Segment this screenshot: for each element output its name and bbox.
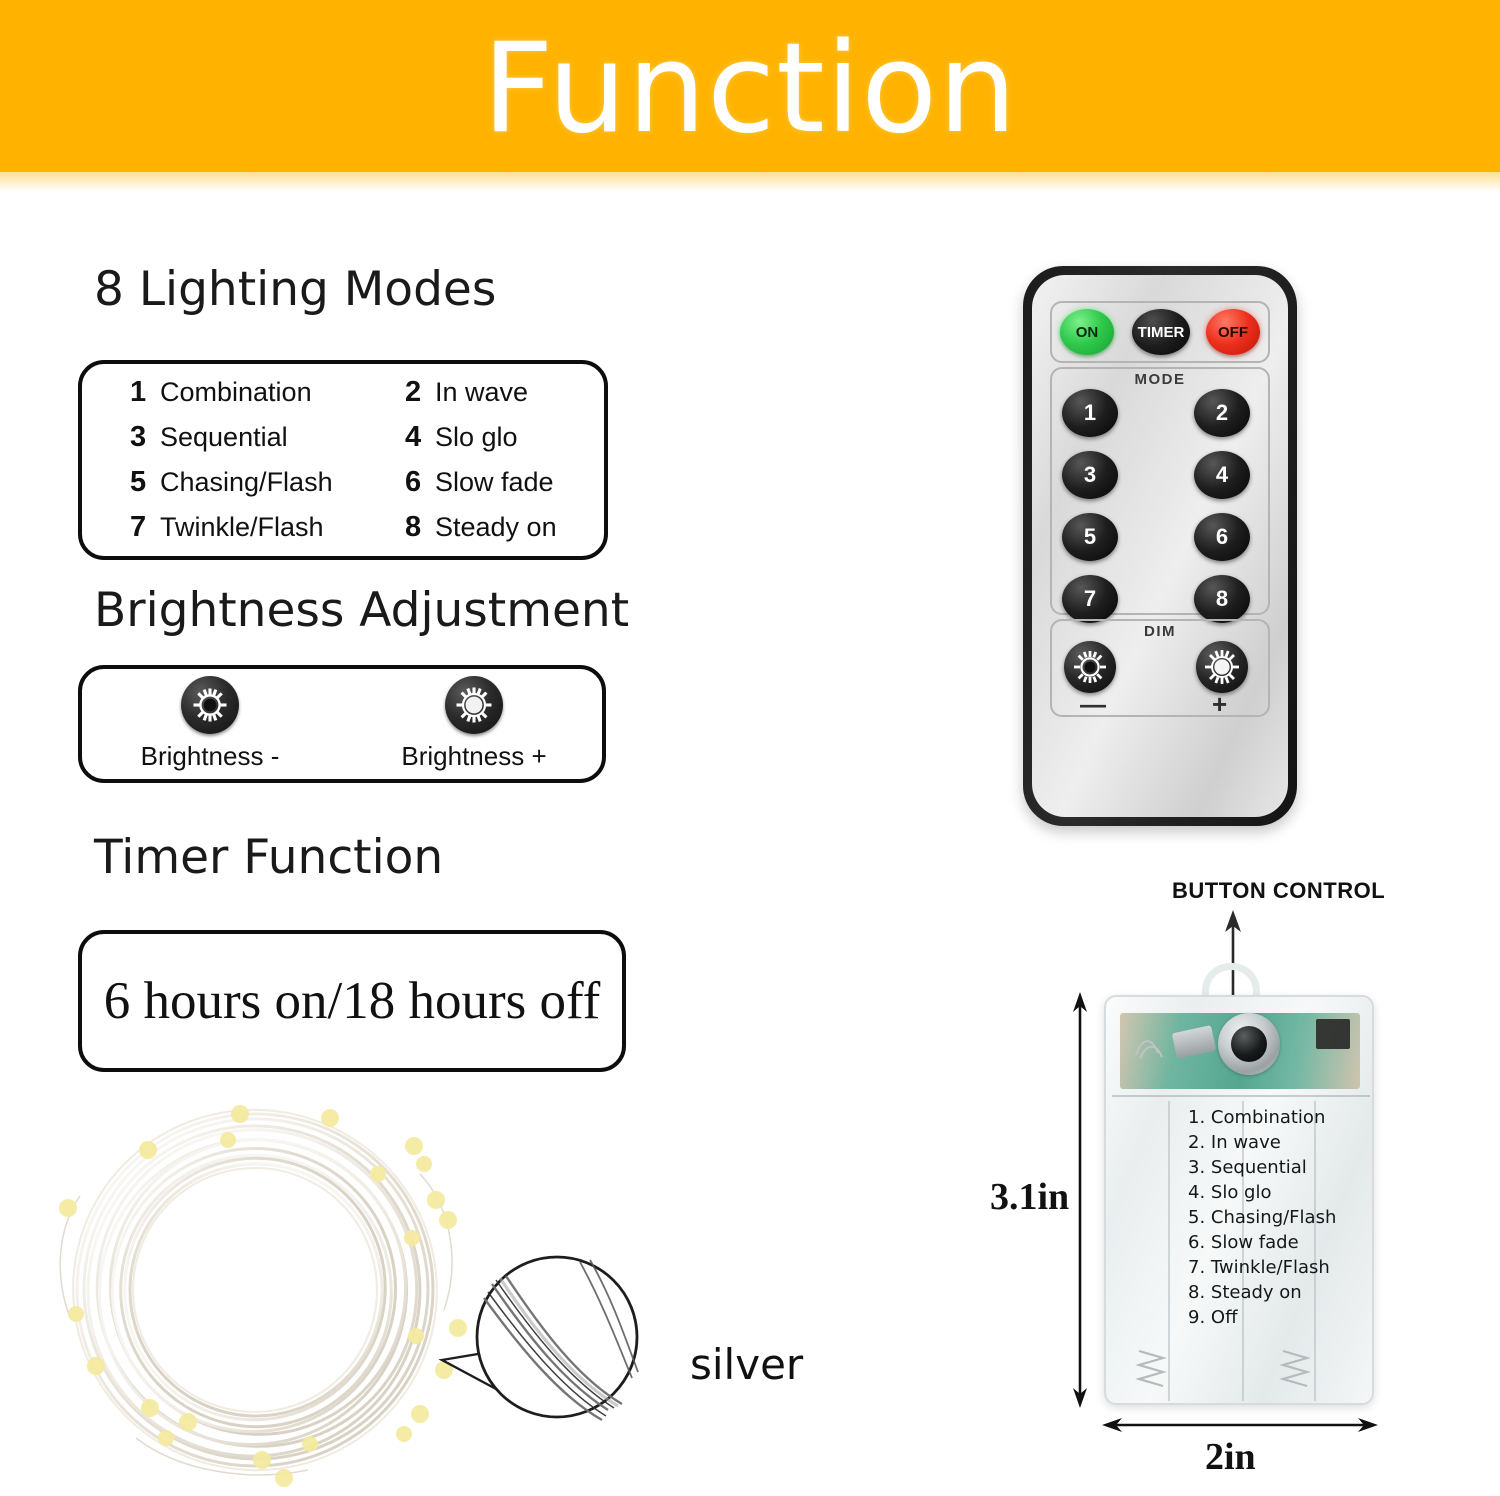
mode-label: Slo glo [435, 422, 518, 453]
mode-label: In wave [435, 377, 528, 408]
mode-item: 5 Chasing/Flash [130, 466, 405, 499]
battery-compartment-divider [1112, 1095, 1370, 1097]
mode-item: 8 Steady on [405, 511, 660, 544]
battery-box-mode-list: 1. Combination 2. In wave 3. Sequential … [1188, 1105, 1374, 1330]
remote-mode-button-4[interactable]: 4 [1194, 451, 1250, 499]
page-title: Function [0, 14, 1500, 164]
battery-mode-item: 6. Slow fade [1188, 1230, 1374, 1255]
lighting-modes-grid: 1 Combination 2 In wave 3 Sequential 4 S… [78, 360, 608, 560]
height-dimension-arrow [1065, 990, 1095, 1410]
brightness-heading: Brightness Adjustment [94, 583, 629, 639]
mode-item: 1 Combination [130, 376, 405, 409]
infographic-page: Function 8 Lighting Modes 1 Combination … [0, 0, 1500, 1496]
remote-off-button[interactable]: OFF [1206, 309, 1260, 355]
battery-mode-item: 1. Combination [1188, 1105, 1374, 1130]
mode-label: Slow fade [435, 467, 554, 498]
mode-label: Chasing/Flash [160, 467, 333, 498]
remote-dim-down-button[interactable] [1064, 641, 1116, 693]
mode-panel-caption: MODE [1032, 371, 1288, 388]
dim-panel-caption: DIM [1032, 623, 1288, 640]
width-dimension-label: 2in [1205, 1435, 1256, 1479]
dim-plus-sign: + [1212, 689, 1227, 720]
mode-number: 1 [130, 376, 160, 409]
remote-mode-button-6[interactable]: 6 [1194, 513, 1250, 561]
remote-timer-button[interactable]: TIMER [1132, 309, 1190, 355]
sun-dim-icon [1069, 646, 1111, 688]
remote-mode-button-5[interactable]: 5 [1062, 513, 1118, 561]
button-control-knob[interactable] [1218, 1013, 1280, 1075]
mode-item: 7 Twinkle/Flash [130, 511, 405, 544]
remote-dim-up-button[interactable] [1196, 641, 1248, 693]
lighting-modes-heading: 8 Lighting Modes [94, 262, 496, 318]
brightness-plus-item: Brightness + [342, 665, 606, 783]
mode-number: 4 [405, 421, 435, 454]
battery-mode-item: 4. Slo glo [1188, 1180, 1374, 1205]
timer-heading: Timer Function [94, 830, 443, 886]
mode-item: 2 In wave [405, 376, 660, 409]
remote-mode-button-8[interactable]: 8 [1194, 575, 1250, 623]
mode-item: 3 Sequential [130, 421, 405, 454]
battery-box: 1. Combination 2. In wave 3. Sequential … [1104, 995, 1374, 1405]
dim-minus-sign: — [1080, 689, 1106, 720]
mode-number: 8 [405, 511, 435, 544]
ic-chip [1316, 1019, 1350, 1049]
mode-item: 6 Slow fade [405, 466, 660, 499]
mode-number: 2 [405, 376, 435, 409]
remote-mode-button-2[interactable]: 2 [1194, 389, 1250, 437]
timer-value: 6 hours on/18 hours off [78, 930, 626, 1072]
solder-wires [1132, 1029, 1172, 1069]
brightness-plus-label: Brightness + [401, 741, 546, 772]
battery-mode-item: 9. Off [1188, 1305, 1374, 1330]
mode-item: 4 Slo glo [405, 421, 660, 454]
mode-label: Sequential [160, 422, 288, 453]
remote-control: ON TIMER OFF MODE 1 2 3 4 5 6 7 8 DIM [1023, 266, 1297, 826]
remote-on-button[interactable]: ON [1060, 309, 1114, 355]
wire-material-label: silver [690, 1340, 803, 1389]
brightness-minus-item: Brightness - [78, 665, 342, 783]
sun-bright-icon [1201, 646, 1243, 688]
battery-mode-item: 2. In wave [1188, 1130, 1374, 1155]
brightness-row: Brightness - [78, 665, 606, 783]
battery-mode-item: 7. Twinkle/Flash [1188, 1255, 1374, 1280]
battery-cell-rail [1168, 1101, 1170, 1401]
mode-label: Twinkle/Flash [160, 512, 324, 543]
mode-number: 7 [130, 511, 160, 544]
sun-dim-icon [181, 676, 239, 734]
sun-bright-icon [445, 676, 503, 734]
remote-mode-button-7[interactable]: 7 [1062, 575, 1118, 623]
remote-mode-button-3[interactable]: 3 [1062, 451, 1118, 499]
wire-magnifier-circle [432, 1232, 642, 1442]
battery-spring [1134, 1347, 1168, 1393]
mode-label: Steady on [435, 512, 557, 543]
battery-spring [1278, 1347, 1312, 1393]
battery-mode-item: 5. Chasing/Flash [1188, 1205, 1374, 1230]
remote-mode-button-1[interactable]: 1 [1062, 389, 1118, 437]
brightness-minus-label: Brightness - [141, 741, 280, 772]
remote-faceplate: ON TIMER OFF MODE 1 2 3 4 5 6 7 8 DIM [1032, 275, 1288, 817]
height-dimension-label: 3.1in [990, 1175, 1069, 1219]
battery-mode-item: 8. Steady on [1188, 1280, 1374, 1305]
mode-number: 6 [405, 466, 435, 499]
mode-label: Combination [160, 377, 312, 408]
mode-number: 3 [130, 421, 160, 454]
header-fade [0, 166, 1500, 192]
mode-number: 5 [130, 466, 160, 499]
battery-mode-item: 3. Sequential [1188, 1155, 1374, 1180]
inductor-component [1172, 1025, 1217, 1059]
button-control-callout-label: BUTTON CONTROL [1172, 878, 1385, 904]
